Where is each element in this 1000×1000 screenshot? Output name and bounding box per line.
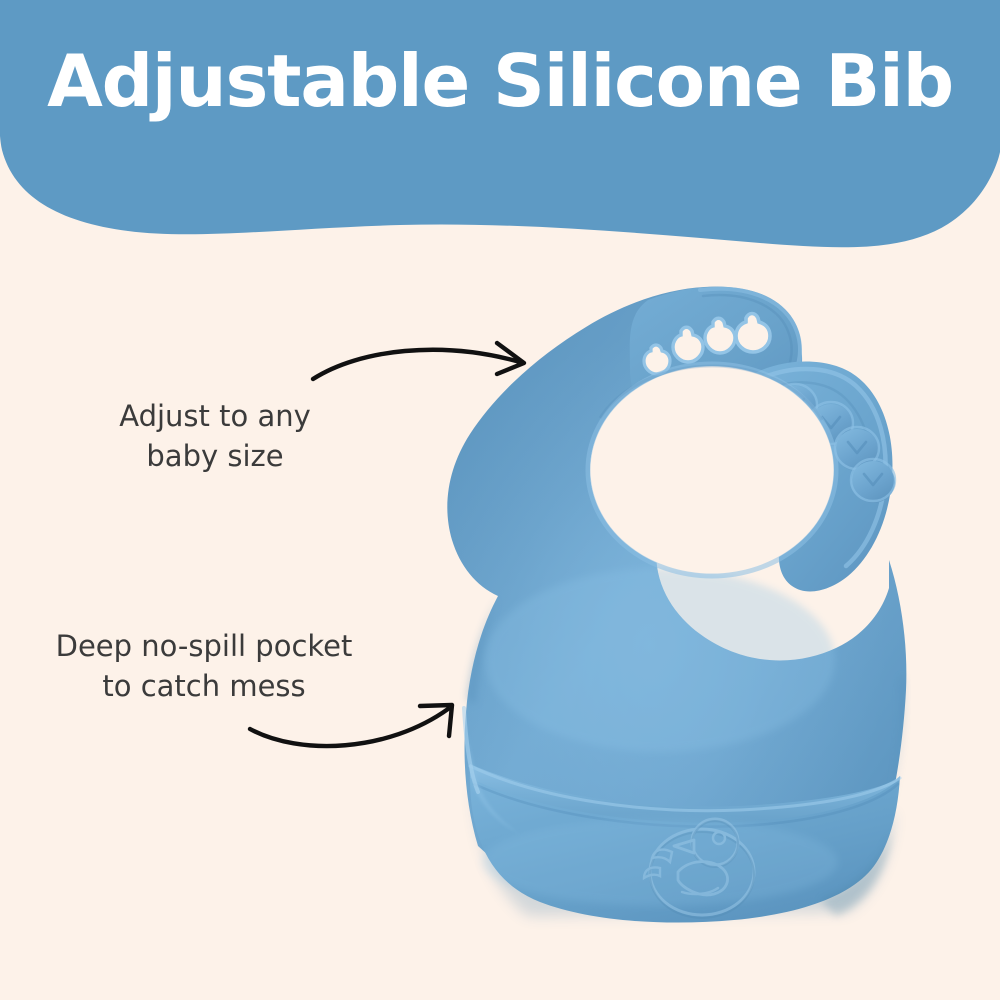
product-image [0, 0, 1000, 1000]
callout-text-pocket: Deep no-spill pocket to catch mess [24, 626, 384, 706]
bib-illustration [0, 0, 1000, 1000]
bib-chest-highlight [485, 568, 835, 752]
button-4 [851, 459, 895, 503]
bib-neck-hole [590, 366, 834, 574]
callout-text-adjust: Adjust to any baby size [60, 396, 370, 476]
product-infographic: Adjustable Silicone Bib [0, 0, 1000, 1000]
